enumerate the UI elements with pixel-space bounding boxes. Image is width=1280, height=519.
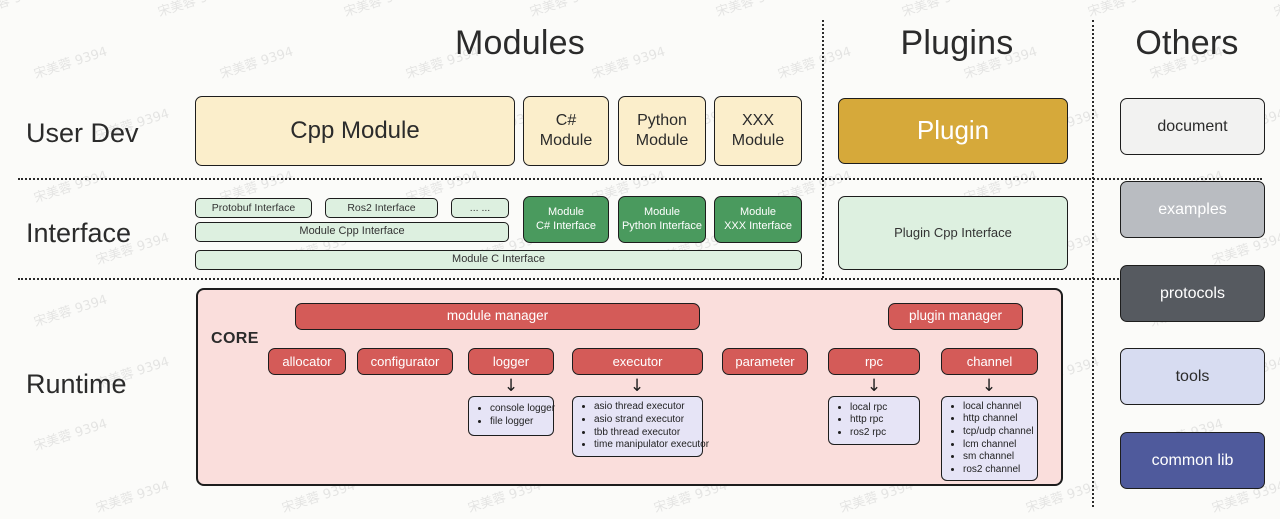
interface-box-protobuf[interactable]: Protobuf Interface bbox=[195, 198, 312, 218]
userdev-box-cpp-module[interactable]: Cpp Module bbox=[195, 96, 515, 166]
row-label-user-dev: User Dev bbox=[26, 118, 186, 149]
detail-list-item: lcm channel bbox=[963, 439, 1034, 452]
detail-list-item: ros2 rpc bbox=[850, 427, 887, 440]
arrow-rpc-down: ↓ bbox=[866, 377, 882, 395]
arrow-executor-down: ↓ bbox=[629, 377, 645, 395]
runtime-box-allocator[interactable]: allocator bbox=[268, 348, 346, 375]
interface-box-plugin-cpp[interactable]: Plugin Cpp Interface bbox=[838, 196, 1068, 270]
detail-list-item: sm channel bbox=[963, 451, 1034, 464]
runtime-box-rpc[interactable]: rpc bbox=[828, 348, 920, 375]
interface-box-module-python[interactable]: Module Python Interface bbox=[618, 196, 706, 243]
divider-userdev-interface bbox=[18, 178, 1262, 180]
detail-list-item: asio thread executor bbox=[594, 401, 709, 414]
runtime-box-executor[interactable]: executor bbox=[572, 348, 703, 375]
detail-list-executor: asio thread executorasio strand executor… bbox=[581, 401, 709, 451]
userdev-box-csharp-module[interactable]: C# Module bbox=[523, 96, 609, 166]
row-label-interface: Interface bbox=[26, 218, 186, 249]
detail-list-item: http channel bbox=[963, 413, 1034, 426]
watermark-text: 宋美蓉 9394 bbox=[31, 413, 109, 455]
column-header-modules: Modules bbox=[380, 24, 660, 63]
detail-list-item: asio strand executor bbox=[594, 414, 709, 427]
detail-list-item: time manipulator executor bbox=[594, 439, 709, 452]
runtime-box-parameter[interactable]: parameter bbox=[722, 348, 808, 375]
watermark-text: 宋美蓉 9394 bbox=[713, 0, 791, 20]
detail-box-executor: asio thread executorasio strand executor… bbox=[572, 396, 703, 457]
watermark-text: 宋美蓉 9394 bbox=[93, 475, 171, 517]
detail-list-channel: local channelhttp channeltcp/udp channel… bbox=[950, 401, 1034, 477]
detail-list-item: tcp/udp channel bbox=[963, 426, 1034, 439]
column-header-others: Others bbox=[1096, 24, 1278, 63]
userdev-box-plugin[interactable]: Plugin bbox=[838, 98, 1068, 164]
detail-list-item: tbb thread executor bbox=[594, 427, 709, 440]
others-box-protocols[interactable]: protocols bbox=[1120, 265, 1265, 322]
others-box-tools[interactable]: tools bbox=[1120, 348, 1265, 405]
runtime-box-channel[interactable]: channel bbox=[941, 348, 1038, 375]
detail-list-item: local rpc bbox=[850, 402, 887, 415]
watermark-text: 宋美蓉 9394 bbox=[31, 289, 109, 331]
watermark-text: 宋美蓉 9394 bbox=[1085, 0, 1163, 20]
detail-list-logger: console loggerfile logger bbox=[477, 403, 555, 428]
column-header-plugins: Plugins bbox=[824, 24, 1090, 63]
runtime-box-module-manager[interactable]: module manager bbox=[295, 303, 700, 330]
interface-box-ellipsis[interactable]: ... ... bbox=[451, 198, 509, 218]
detail-list-rpc: local rpchttp rpcros2 rpc bbox=[837, 402, 887, 440]
interface-box-module-cpp[interactable]: Module Cpp Interface bbox=[195, 222, 509, 242]
runtime-box-logger[interactable]: logger bbox=[468, 348, 554, 375]
userdev-box-xxx-module[interactable]: XXX Module bbox=[714, 96, 802, 166]
arrow-channel-down: ↓ bbox=[981, 377, 997, 395]
watermark-text: 宋美蓉 9394 bbox=[527, 0, 605, 20]
detail-box-logger: console loggerfile logger bbox=[468, 396, 554, 436]
divider-plugins-others bbox=[1092, 20, 1094, 507]
runtime-box-configurator[interactable]: configurator bbox=[357, 348, 453, 375]
watermark-text: 宋美蓉 9394 bbox=[1271, 0, 1280, 20]
watermark-text: 宋美蓉 9394 bbox=[341, 0, 419, 20]
detail-box-channel: local channelhttp channeltcp/udp channel… bbox=[941, 396, 1038, 481]
runtime-box-plugin-manager[interactable]: plugin manager bbox=[888, 303, 1023, 330]
others-box-common-lib[interactable]: common lib bbox=[1120, 432, 1265, 489]
detail-list-item: file logger bbox=[490, 416, 555, 429]
architecture-diagram: 宋美蓉 9394宋美蓉 9394宋美蓉 9394宋美蓉 9394宋美蓉 9394… bbox=[0, 0, 1280, 519]
others-box-document[interactable]: document bbox=[1120, 98, 1265, 155]
interface-box-module-c[interactable]: Module C Interface bbox=[195, 250, 802, 270]
detail-list-item: http rpc bbox=[850, 414, 887, 427]
detail-list-item: local channel bbox=[963, 401, 1034, 414]
interface-box-module-csharp[interactable]: Module C# Interface bbox=[523, 196, 609, 243]
userdev-box-python-module[interactable]: Python Module bbox=[618, 96, 706, 166]
watermark-text: 宋美蓉 9394 bbox=[0, 0, 47, 20]
arrow-logger-down: ↓ bbox=[503, 377, 519, 395]
divider-interface-runtime bbox=[18, 278, 1262, 280]
row-label-runtime: Runtime bbox=[26, 369, 186, 400]
interface-box-ros2[interactable]: Ros2 Interface bbox=[325, 198, 438, 218]
watermark-text: 宋美蓉 9394 bbox=[31, 165, 109, 207]
detail-list-item: console logger bbox=[490, 403, 555, 416]
watermark-text: 宋美蓉 9394 bbox=[217, 41, 295, 83]
watermark-text: 宋美蓉 9394 bbox=[31, 41, 109, 83]
others-box-examples[interactable]: examples bbox=[1120, 181, 1265, 238]
interface-box-module-xxx[interactable]: Module XXX Interface bbox=[714, 196, 802, 243]
watermark-text: 宋美蓉 9394 bbox=[155, 0, 233, 20]
detail-list-item: ros2 channel bbox=[963, 464, 1034, 477]
core-label: CORE bbox=[211, 330, 259, 348]
watermark-text: 宋美蓉 9394 bbox=[899, 0, 977, 20]
detail-box-rpc: local rpchttp rpcros2 rpc bbox=[828, 396, 920, 445]
